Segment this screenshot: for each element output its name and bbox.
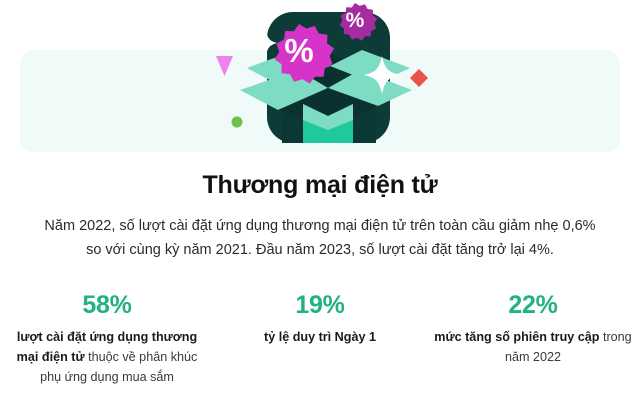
stat-value: 22% [433,292,634,320]
stat-card-1: 58% lượt cài đặt ứng dụng thương mại điệ… [1,292,214,388]
ecommerce-stats-page: % % Thương mại điện tử Năm 2022, số lượt… [0,0,640,402]
decor-diamond [410,69,428,87]
stat-card-2: 19% tỷ lệ duy trì Ngày 1 [214,292,427,347]
stat-caption: tỷ lệ duy trì Ngày 1 [220,327,421,347]
stat-caption-bold: mức tăng số phiên truy cập [434,330,599,344]
headline-block: Thương mại điện tử Năm 2022, số lượt cài… [0,170,640,262]
decor-triangle [216,56,233,76]
stat-value: 19% [220,292,421,320]
decor-circle [232,117,243,128]
open-box-discount-illustration: % % [0,0,640,155]
badge-percent-symbol: % [284,32,313,69]
page-title: Thương mại điện tử [0,170,640,201]
stat-value: 58% [7,292,208,320]
hero-section: % % [0,0,640,155]
stat-caption: lượt cài đặt ứng dụng thương mại điện tử… [9,327,205,388]
stat-caption-bold: tỷ lệ duy trì Ngày 1 [264,330,376,344]
stats-row: 58% lượt cài đặt ứng dụng thương mại điệ… [0,292,640,388]
stat-card-3: 22% mức tăng số phiên truy cập trong năm… [427,292,640,367]
stat-caption: mức tăng số phiên truy cập trong năm 202… [433,327,633,368]
badge-percent-symbol-small: % [346,9,365,32]
page-description: Năm 2022, số lượt cài đặt ứng dụng thươn… [40,215,600,262]
